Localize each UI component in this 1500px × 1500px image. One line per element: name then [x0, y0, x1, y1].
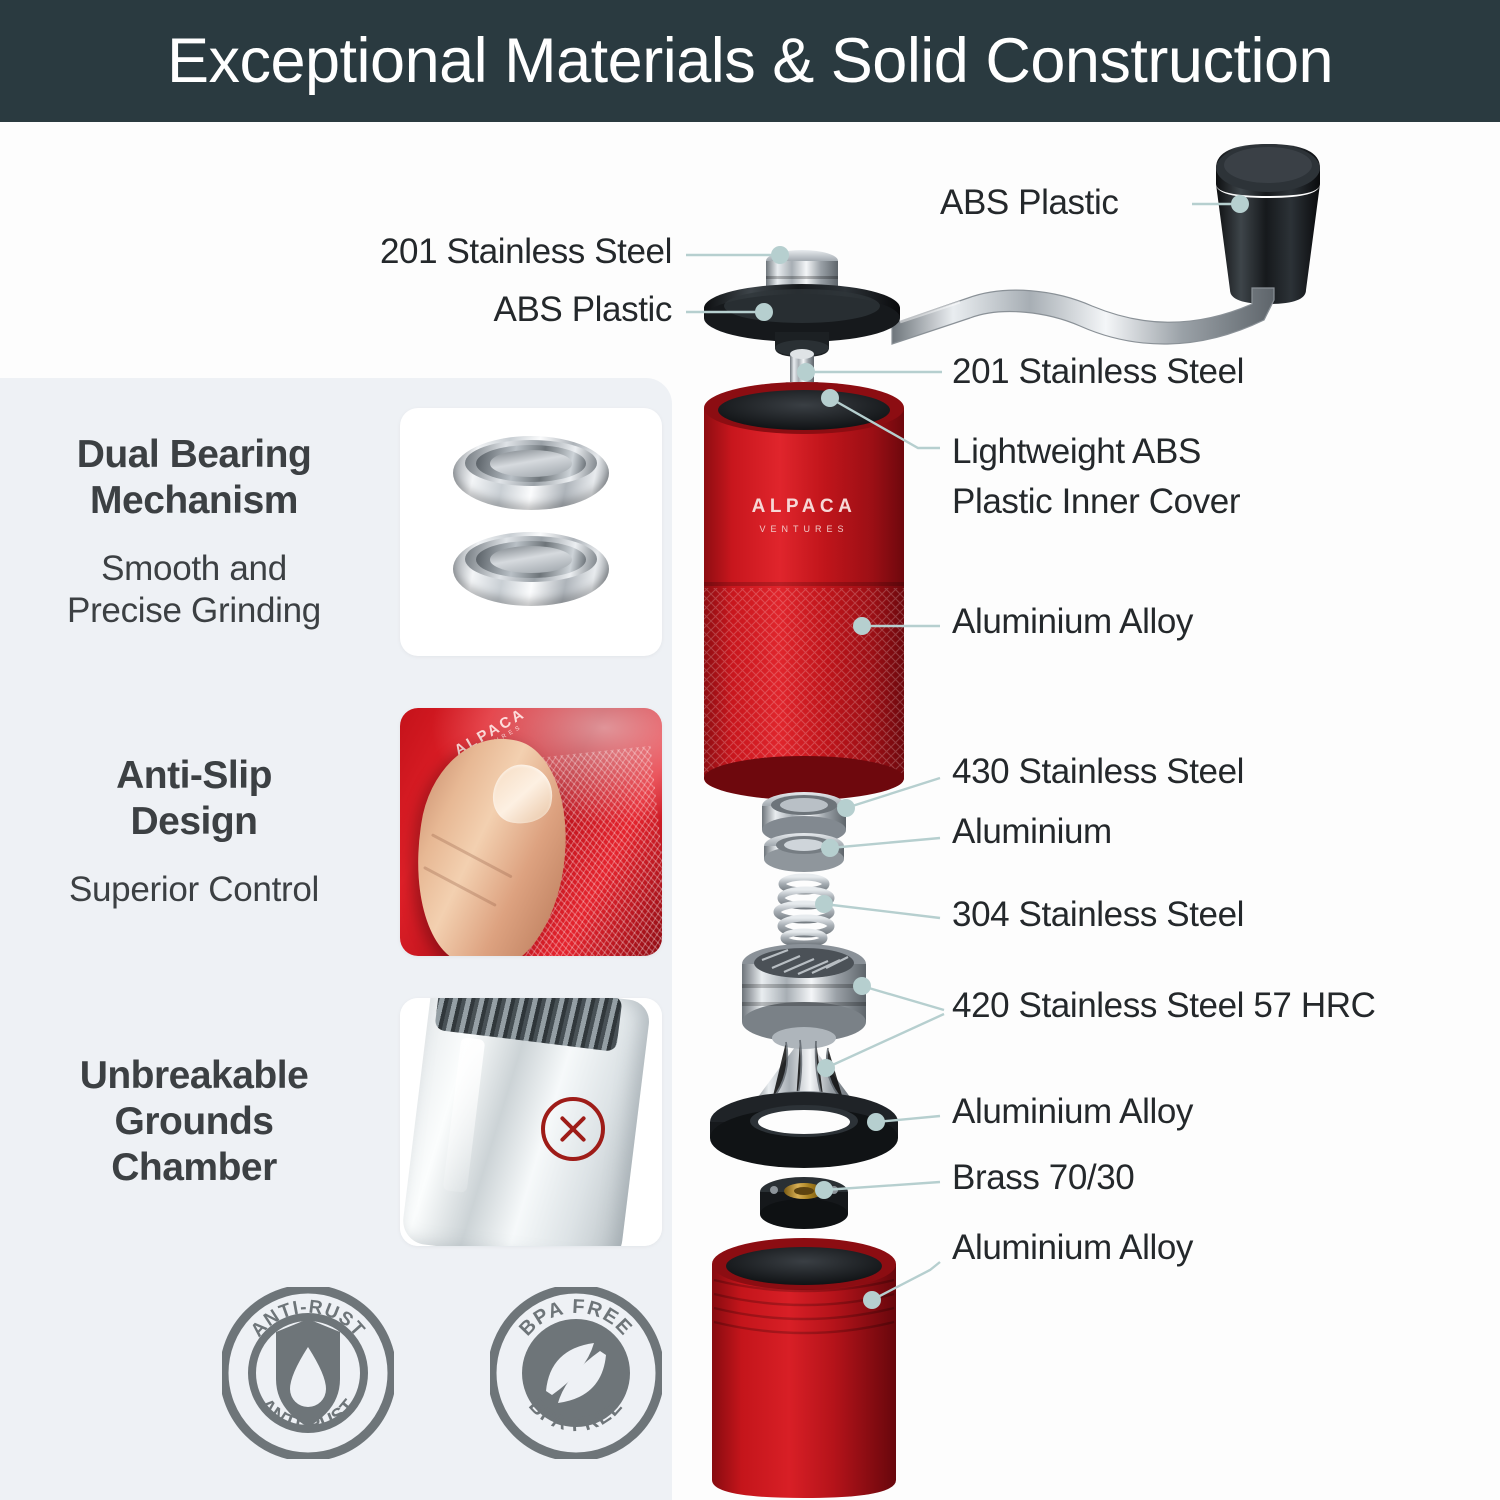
- feature-subtitle: Superior Control: [0, 869, 388, 911]
- top-hub-stainless: [766, 250, 838, 316]
- callout-label-inner-cover-line2: Plastic Inner Cover: [952, 482, 1240, 523]
- feature-subtitle-line: Precise Grinding: [0, 590, 388, 632]
- crank-knob: [1216, 144, 1320, 304]
- feature-dual-bearing: Dual Bearing Mechanism Smooth and Precis…: [0, 408, 672, 656]
- aluminium-washer: [764, 833, 844, 872]
- feature-title-line: Dual Bearing: [0, 432, 388, 478]
- drive-shaft-stainless: [784, 349, 820, 428]
- bearing-430-stainless: [762, 792, 846, 844]
- feature-title: Anti-Slip Design: [0, 753, 388, 845]
- callout-label-brass-nut: Brass 70/30: [952, 1158, 1134, 1199]
- bearing-bottom-icon: [453, 532, 609, 606]
- knuckle-crease: [423, 865, 497, 906]
- feature-title-line: Design: [0, 799, 388, 845]
- body-brand-tagline: VENTURES: [759, 524, 848, 534]
- feature-anti-slip: Anti-Slip Design Superior Control ALPACA…: [0, 708, 672, 956]
- glass-jar-prohibited-photo: [400, 998, 662, 1246]
- badge-bpa-free: BPA FREE BPA FREE: [490, 1287, 662, 1459]
- grinder-body-aluminium: ALPACA VENTURES: [704, 382, 904, 800]
- feature-title-line: Chamber: [0, 1145, 388, 1191]
- callout-label-spring: 304 Stainless Steel: [952, 895, 1244, 936]
- feature-title-line: Anti-Slip: [0, 753, 388, 799]
- feature-anti-slip-text: Anti-Slip Design Superior Control: [0, 753, 400, 911]
- anti-slip-grip-photo: ALPACA VENTURES: [400, 708, 662, 956]
- feature-title: Unbreakable Grounds Chamber: [0, 1053, 388, 1191]
- grounds-cup-aluminium-alloy: [712, 1238, 896, 1498]
- feature-subtitle-line: Superior Control: [0, 869, 388, 911]
- knuckle-crease: [431, 833, 513, 878]
- callout-label-cap-disc: ABS Plastic: [300, 290, 672, 331]
- feature-dual-bearing-text: Dual Bearing Mechanism Smooth and Precis…: [0, 432, 400, 632]
- body-brand-name: ALPACA: [752, 496, 857, 517]
- feature-unbreakable-chamber: Unbreakable Grounds Chamber: [0, 998, 672, 1246]
- conical-burr-420: [752, 1027, 856, 1119]
- feature-subtitle-line: Smooth and: [0, 548, 388, 590]
- badge-anti-rust: ANTI-RUST ANTI-RUST: [222, 1287, 394, 1459]
- page-header: Exceptional Materials & Solid Constructi…: [0, 0, 1500, 122]
- callout-label-bearing: 430 Stainless Steel: [952, 752, 1244, 793]
- compression-spring-304: [777, 877, 831, 944]
- brass-nut-70-30: [760, 1177, 848, 1229]
- thumbnail-icon: [490, 761, 556, 828]
- page-title: Exceptional Materials & Solid Constructi…: [167, 25, 1333, 97]
- feature-unbreakable-chamber-text: Unbreakable Grounds Chamber: [0, 1053, 400, 1191]
- bearing-top-icon: [453, 436, 609, 510]
- trust-badges: ANTI-RUST ANTI-RUST BPA FREE BPA FREE: [222, 1278, 662, 1468]
- callout-label-grounds-cup: Aluminium Alloy: [952, 1228, 1193, 1269]
- feature-title-line: Mechanism: [0, 478, 388, 524]
- burr-holder-aluminium-alloy: [710, 1092, 898, 1168]
- crank-arm: [892, 288, 1274, 344]
- callout-label-burr-holder: Aluminium Alloy: [952, 1092, 1193, 1133]
- callout-label-burr-set: 420 Stainless Steel 57 HRC: [952, 986, 1375, 1027]
- dual-bearing-photo: [400, 408, 662, 656]
- callout-label-body-tube: Aluminium Alloy: [952, 602, 1193, 643]
- callout-label-washer: Aluminium: [952, 812, 1112, 853]
- feature-subtitle: Smooth and Precise Grinding: [0, 548, 388, 632]
- feature-title-line: Grounds: [0, 1099, 388, 1145]
- callout-label-center-shaft: 201 Stainless Steel: [952, 352, 1244, 393]
- callout-label-knob-shaft: 201 Stainless Steel: [300, 232, 672, 273]
- callout-label-inner-cover-line1: Lightweight ABS: [952, 432, 1201, 473]
- abs-plastic-cap-disc: [704, 284, 900, 357]
- callout-label-handle-knob: ABS Plastic: [940, 183, 1118, 224]
- outer-burr-ring-420: [742, 944, 866, 1042]
- feature-title-line: Unbreakable: [0, 1053, 388, 1099]
- feature-title: Dual Bearing Mechanism: [0, 432, 388, 524]
